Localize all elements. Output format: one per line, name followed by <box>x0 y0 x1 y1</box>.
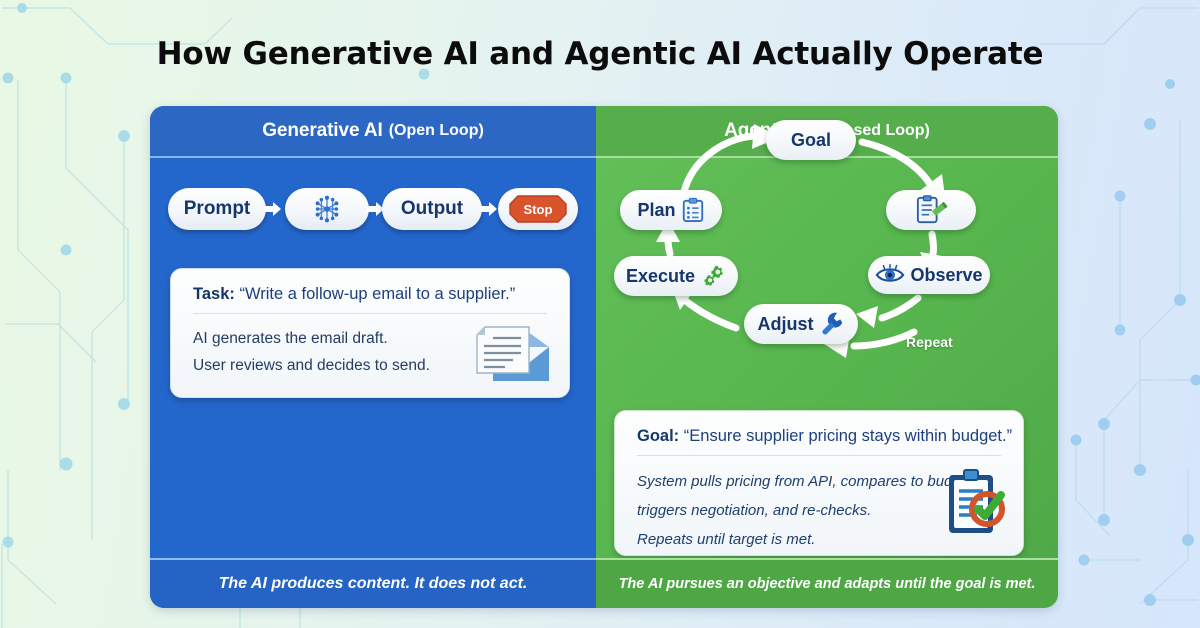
page-title: How Generative AI and Agentic AI Actuall… <box>0 36 1200 72</box>
stop-sign-icon: Stop <box>509 194 567 224</box>
generative-ai-footer: The AI produces content. It does not act… <box>150 558 596 608</box>
loop-node-adjust-label: Adjust <box>758 314 814 335</box>
clipboard-check-icon <box>945 467 1007 537</box>
task-card: Task: “Write a follow-up email to a supp… <box>170 268 570 398</box>
gears-icon <box>700 263 726 289</box>
flow-step-output-label: Output <box>401 198 463 220</box>
flow-arrow-1-icon <box>264 201 282 217</box>
task-card-title-quote: “Write a follow-up email to a supplier.” <box>239 285 515 303</box>
task-card-divider <box>193 313 547 314</box>
generative-ai-header: Generative AI (Open Loop) <box>150 106 596 158</box>
goal-card-title: Goal: “Ensure supplier pricing stays wit… <box>637 427 1005 446</box>
goal-card-body-line2: triggers negotiation, and re-checks. <box>637 496 977 525</box>
loop-node-act[interactable] <box>886 190 976 230</box>
loop-node-goal[interactable]: Goal <box>766 120 856 160</box>
eye-icon <box>875 263 905 287</box>
stop-sign-label: Stop <box>524 202 553 217</box>
generative-ai-header-title: Generative AI <box>262 120 383 142</box>
agentic-ai-panel: Agentic AI (Closed Loop) <box>596 106 1058 608</box>
generative-ai-panel: Generative AI (Open Loop) Prompt <box>150 106 596 608</box>
goal-card-body: System pulls pricing from API, compares … <box>637 467 977 554</box>
loop-node-observe-label: Observe <box>910 265 982 286</box>
clipboard-pencil-icon <box>914 195 948 225</box>
loop-node-execute[interactable]: Execute <box>614 256 738 296</box>
task-card-body-line1: AI generates the email draft. <box>193 325 430 352</box>
flow-step-model[interactable] <box>285 188 369 230</box>
goal-card-title-quote: “Ensure supplier pricing stays within bu… <box>684 427 1012 445</box>
flow-step-output[interactable]: Output <box>382 188 482 230</box>
goal-card-body-line3: Repeats until target is met. <box>637 525 977 554</box>
flow-arrow-3-icon <box>480 201 498 217</box>
task-card-body-line2: User reviews and decides to send. <box>193 352 430 379</box>
loop-node-observe[interactable]: Observe <box>868 256 990 294</box>
loop-node-plan[interactable]: Plan <box>620 190 722 230</box>
clipboard-list-icon <box>681 197 705 223</box>
agentic-ai-footer: The AI pursues an objective and adapts u… <box>596 558 1058 608</box>
flow-step-stop[interactable]: Stop <box>498 188 578 230</box>
loop-node-goal-label: Goal <box>791 130 831 151</box>
goal-card: Goal: “Ensure supplier pricing stays wit… <box>614 410 1024 556</box>
generative-ai-header-subtitle: (Open Loop) <box>389 122 484 140</box>
neural-network-icon <box>312 194 342 224</box>
task-card-title-label: Task: <box>193 285 235 303</box>
loop-node-execute-label: Execute <box>626 266 695 287</box>
goal-card-divider <box>637 455 1001 456</box>
repeat-label: Repeat <box>906 334 953 350</box>
task-card-body: AI generates the email draft. User revie… <box>193 325 430 379</box>
flow-step-prompt[interactable]: Prompt <box>168 188 266 230</box>
goal-card-body-line1: System pulls pricing from API, compares … <box>637 467 977 496</box>
wrench-icon <box>819 311 845 337</box>
task-card-title: Task: “Write a follow-up email to a supp… <box>193 285 551 304</box>
comparison-board: Generative AI (Open Loop) Prompt <box>150 106 1058 608</box>
loop-node-adjust[interactable]: Adjust <box>744 304 858 344</box>
email-document-icon <box>471 325 551 383</box>
loop-node-plan-label: Plan <box>637 200 675 221</box>
goal-card-title-label: Goal: <box>637 427 679 445</box>
flow-step-prompt-label: Prompt <box>184 198 251 220</box>
